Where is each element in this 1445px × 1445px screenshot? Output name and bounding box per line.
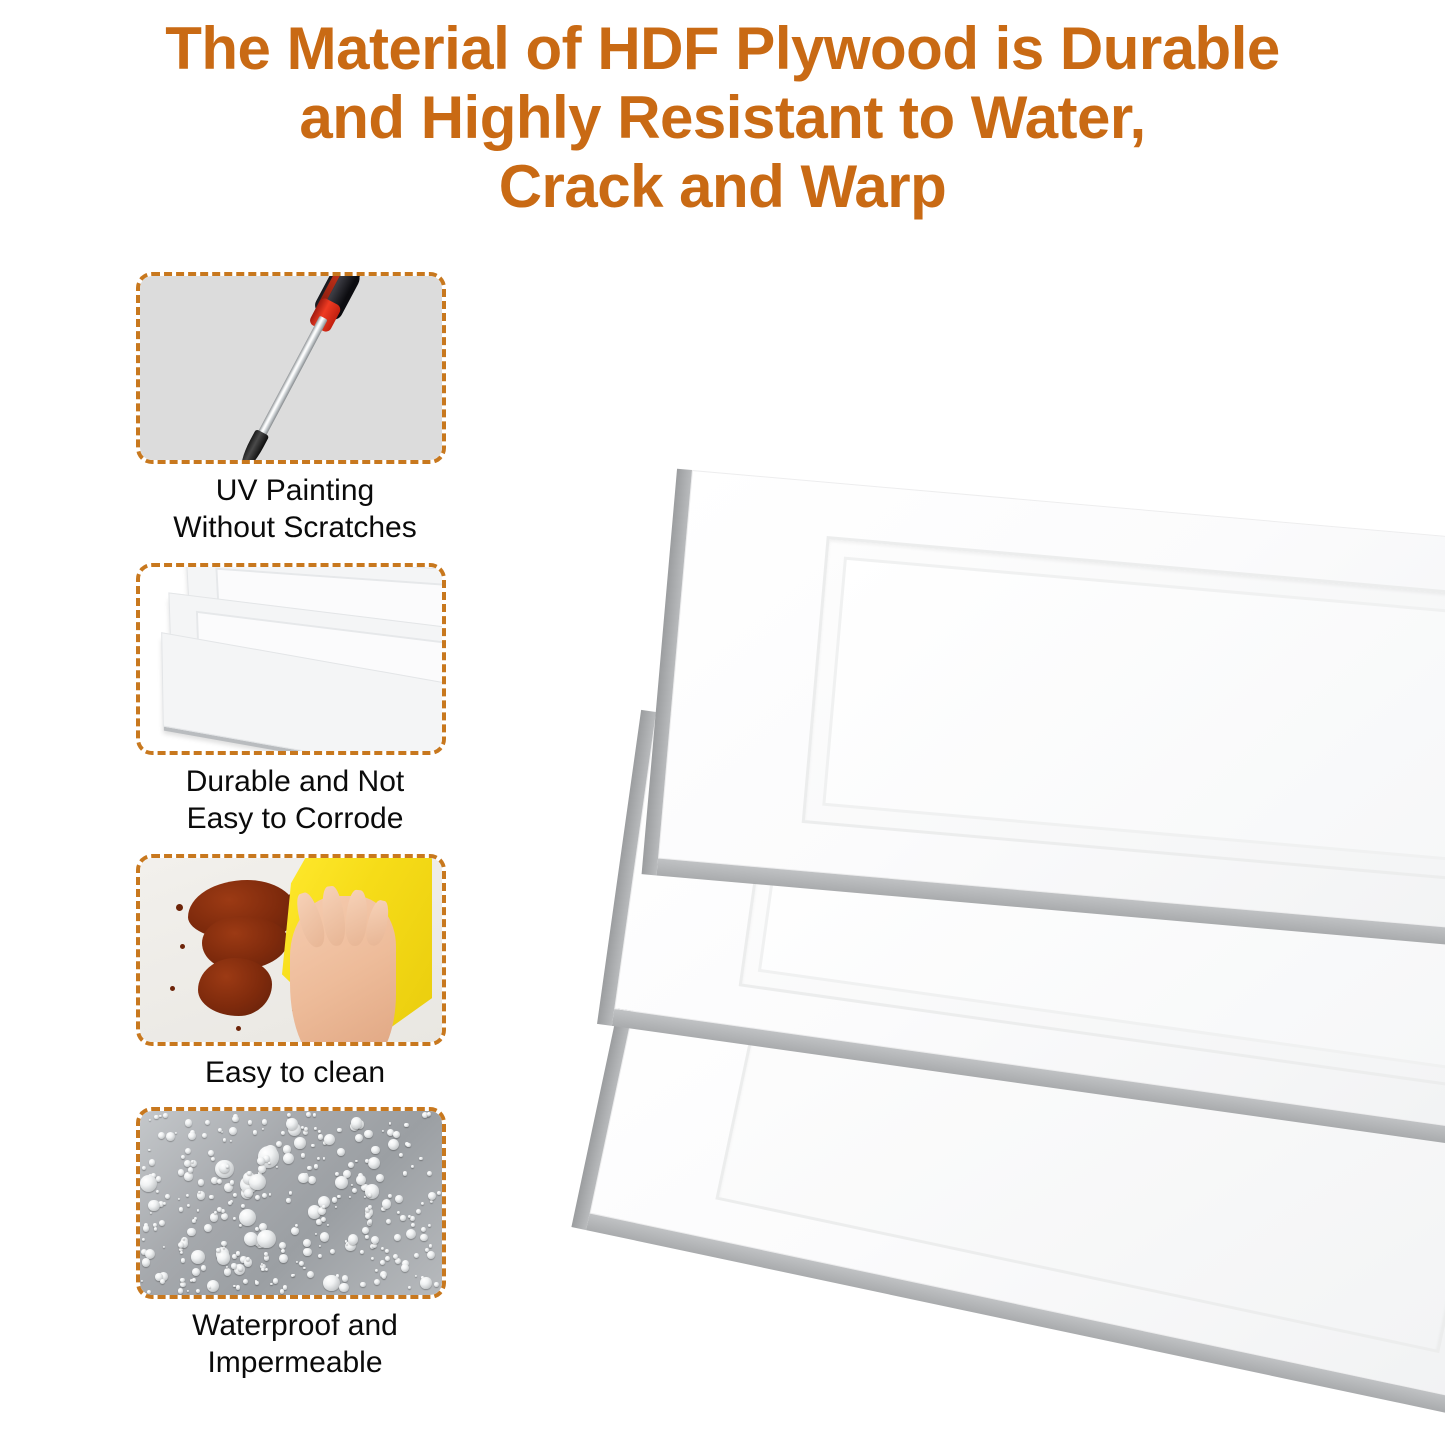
water-droplet bbox=[311, 1144, 315, 1148]
water-droplet bbox=[318, 1130, 321, 1133]
water-droplet bbox=[221, 1213, 228, 1220]
water-droplet bbox=[180, 1282, 186, 1288]
water-droplet bbox=[408, 1286, 411, 1289]
water-droplet bbox=[232, 1116, 238, 1122]
feature-card-durable-corrode bbox=[136, 563, 446, 755]
water-droplet bbox=[385, 1256, 390, 1261]
water-droplet bbox=[337, 1195, 340, 1198]
water-droplet bbox=[185, 1148, 192, 1155]
water-droplet bbox=[149, 1119, 151, 1121]
water-droplet bbox=[248, 1120, 252, 1124]
water-droplet bbox=[223, 1138, 226, 1141]
water-droplet bbox=[293, 1274, 295, 1276]
water-droplet bbox=[141, 1280, 143, 1282]
water-droplet bbox=[166, 1132, 175, 1141]
water-droplet bbox=[317, 1157, 321, 1161]
water-droplet bbox=[421, 1202, 425, 1206]
water-droplet bbox=[211, 1157, 215, 1161]
water-droplet bbox=[192, 1219, 196, 1223]
water-droplet bbox=[307, 1166, 311, 1170]
title-line-3: Crack and Warp bbox=[60, 152, 1385, 221]
water-droplet bbox=[163, 1246, 165, 1248]
water-droplet bbox=[318, 1254, 322, 1258]
water-droplet bbox=[320, 1232, 329, 1241]
water-droplet bbox=[239, 1224, 243, 1228]
water-droplet bbox=[393, 1254, 398, 1259]
water-droplet bbox=[314, 1127, 317, 1130]
water-droplet bbox=[269, 1193, 272, 1196]
water-droplet bbox=[270, 1283, 273, 1286]
water-droplet bbox=[198, 1191, 201, 1194]
water-droplet bbox=[376, 1174, 384, 1182]
water-droplet bbox=[322, 1205, 326, 1209]
water-droplet bbox=[244, 1189, 252, 1197]
water-droplet bbox=[337, 1128, 342, 1133]
water-droplet bbox=[332, 1197, 338, 1203]
page-title: The Material of HDF Plywood is Durable a… bbox=[0, 14, 1445, 221]
water-droplet bbox=[342, 1275, 349, 1282]
water-droplet bbox=[192, 1268, 200, 1276]
water-droplet bbox=[261, 1268, 265, 1272]
water-droplet bbox=[273, 1278, 279, 1284]
hdf-plywood-panel-stack bbox=[600, 420, 1445, 1370]
water-droplet bbox=[238, 1266, 243, 1271]
water-droplet bbox=[371, 1146, 379, 1154]
water-droplet bbox=[286, 1198, 291, 1203]
water-droplet bbox=[323, 1157, 326, 1160]
water-droplet bbox=[159, 1115, 162, 1118]
water-droplet bbox=[184, 1160, 191, 1167]
water-droplet bbox=[255, 1281, 259, 1285]
feature-item-easy-clean: Easy to clean bbox=[136, 854, 454, 1092]
water-droplet bbox=[287, 1113, 291, 1117]
water-droplet bbox=[397, 1211, 400, 1214]
water-droplet bbox=[159, 1220, 165, 1226]
caption-line: Waterproof and bbox=[136, 1308, 454, 1345]
water-droplet bbox=[244, 1232, 258, 1246]
water-droplet bbox=[362, 1227, 369, 1234]
water-droplet bbox=[368, 1193, 372, 1197]
water-droplet bbox=[280, 1289, 285, 1294]
water-droplet bbox=[187, 1228, 196, 1237]
water-droplet bbox=[421, 1227, 426, 1232]
water-droplet bbox=[158, 1132, 165, 1139]
water-droplet bbox=[394, 1234, 401, 1241]
water-droplet bbox=[257, 1230, 276, 1249]
water-droplet bbox=[296, 1261, 298, 1263]
water-droplet bbox=[411, 1165, 414, 1168]
water-droplet bbox=[181, 1155, 185, 1159]
water-droplet bbox=[416, 1209, 421, 1214]
water-droplet bbox=[307, 1271, 315, 1279]
water-droplet bbox=[380, 1260, 385, 1265]
water-droplet bbox=[226, 1165, 229, 1168]
water-droplet bbox=[430, 1200, 433, 1203]
water-droplet bbox=[179, 1207, 184, 1212]
water-droplet bbox=[318, 1207, 326, 1215]
water-droplet bbox=[304, 1127, 308, 1131]
water-droplet bbox=[187, 1204, 190, 1207]
water-droplet bbox=[437, 1191, 441, 1195]
water-droplet bbox=[231, 1263, 236, 1268]
water-droplet bbox=[364, 1130, 373, 1139]
water-droplet bbox=[403, 1171, 408, 1176]
water-droplet bbox=[368, 1205, 372, 1209]
water-droplet bbox=[365, 1213, 371, 1219]
water-droplet bbox=[420, 1234, 428, 1242]
stain-splatter bbox=[236, 1026, 241, 1031]
water-droplet bbox=[389, 1122, 391, 1124]
water-droplet bbox=[233, 1193, 237, 1197]
water-droplet bbox=[355, 1160, 358, 1163]
water-droplet bbox=[428, 1224, 431, 1227]
water-droplet bbox=[217, 1251, 231, 1265]
water-droplet bbox=[150, 1212, 153, 1215]
water-droplet bbox=[163, 1113, 168, 1118]
water-droplet bbox=[348, 1162, 354, 1168]
water-droplet bbox=[156, 1190, 160, 1194]
water-droplet bbox=[258, 1165, 267, 1174]
water-droplet bbox=[393, 1131, 400, 1138]
caption-line: Easy to Corrode bbox=[136, 801, 454, 838]
water-droplet bbox=[303, 1267, 306, 1270]
water-droplet bbox=[265, 1268, 268, 1271]
water-droplet bbox=[315, 1233, 317, 1235]
water-droplet bbox=[188, 1167, 193, 1172]
caption-line: Easy to clean bbox=[136, 1055, 454, 1092]
water-droplet bbox=[330, 1249, 335, 1254]
water-droplet bbox=[160, 1279, 165, 1284]
water-droplet bbox=[224, 1268, 231, 1275]
water-droplet bbox=[382, 1199, 392, 1209]
water-droplet bbox=[375, 1269, 378, 1272]
water-droplet bbox=[303, 1130, 308, 1135]
screwdriver-icon bbox=[140, 276, 442, 460]
water-droplet bbox=[335, 1206, 337, 1208]
water-droplet bbox=[148, 1149, 151, 1152]
water-droplet bbox=[181, 1258, 185, 1262]
water-droplet bbox=[165, 1194, 170, 1199]
water-droplet bbox=[382, 1130, 385, 1133]
water-droplet bbox=[221, 1241, 226, 1246]
stacked-panels-icon bbox=[140, 567, 442, 751]
water-droplet bbox=[323, 1275, 339, 1291]
water-droplet bbox=[298, 1173, 309, 1184]
water-droplet bbox=[339, 1283, 349, 1293]
water-droplet bbox=[255, 1195, 260, 1200]
water-droplet bbox=[306, 1112, 311, 1117]
water-droplet bbox=[209, 1286, 211, 1288]
water-droplet bbox=[236, 1251, 241, 1256]
water-droplet bbox=[360, 1282, 365, 1287]
water-droplet bbox=[209, 1195, 214, 1200]
water-droplet bbox=[351, 1117, 363, 1129]
screwdriver-glyph bbox=[236, 276, 359, 460]
water-droplet bbox=[381, 1247, 384, 1250]
feature-card-uv-painting bbox=[136, 272, 446, 464]
water-droplet bbox=[318, 1134, 324, 1140]
water-droplet bbox=[143, 1225, 149, 1231]
water-droplet bbox=[208, 1150, 214, 1156]
water-droplet bbox=[276, 1166, 278, 1168]
water-droplet bbox=[192, 1278, 196, 1282]
water-droplet bbox=[299, 1261, 304, 1266]
water-droplet bbox=[388, 1139, 399, 1150]
water-droplet bbox=[401, 1264, 410, 1273]
water-droplet bbox=[349, 1196, 351, 1198]
water-droplet bbox=[404, 1123, 409, 1128]
water-droplet bbox=[410, 1216, 414, 1220]
feature-list: UV Painting Without Scratches Dura bbox=[136, 272, 454, 1398]
feature-caption-easy-clean: Easy to clean bbox=[136, 1055, 454, 1092]
water-droplet bbox=[419, 1157, 423, 1161]
water-droplet bbox=[233, 1217, 236, 1220]
water-droplet bbox=[268, 1162, 271, 1165]
water-droplet bbox=[196, 1289, 200, 1293]
water-droplet bbox=[303, 1239, 311, 1247]
water-droplet bbox=[360, 1250, 364, 1254]
water-droplet bbox=[289, 1191, 292, 1194]
title-line-2: and Highly Resistant to Water, bbox=[60, 83, 1385, 152]
water-droplet bbox=[283, 1153, 294, 1164]
feature-item-waterproof: Waterproof and Impermeable bbox=[136, 1107, 454, 1382]
water-droplet bbox=[264, 1255, 269, 1260]
water-droplet bbox=[202, 1133, 207, 1138]
water-droplet bbox=[420, 1277, 431, 1288]
water-droplet bbox=[427, 1251, 435, 1259]
water-droplet bbox=[356, 1175, 366, 1185]
water-droplet bbox=[230, 1140, 233, 1143]
water-droplet bbox=[191, 1250, 205, 1264]
water-droplet bbox=[198, 1179, 204, 1185]
feature-caption-durable-corrode: Durable and Not Easy to Corrode bbox=[136, 764, 454, 838]
water-droplet bbox=[148, 1200, 159, 1211]
water-droplet bbox=[180, 1278, 185, 1283]
water-droplet bbox=[313, 1113, 316, 1116]
screwdriver-tip bbox=[236, 429, 269, 460]
feature-caption-waterproof: Waterproof and Impermeable bbox=[136, 1308, 454, 1382]
water-droplet bbox=[382, 1274, 386, 1278]
water-droplet bbox=[400, 1215, 405, 1220]
feature-card-easy-clean bbox=[136, 854, 446, 1046]
water-droplet bbox=[281, 1249, 285, 1253]
caption-line: UV Painting bbox=[136, 473, 454, 510]
water-droplet bbox=[187, 1290, 189, 1292]
water-droplet bbox=[399, 1153, 403, 1157]
water-droplet bbox=[427, 1112, 431, 1116]
water-droplet bbox=[414, 1253, 419, 1258]
hand-wiping-cloth-icon bbox=[140, 858, 442, 1042]
screwdriver-shaft bbox=[254, 316, 328, 444]
water-droplet bbox=[149, 1159, 156, 1166]
water-droplet bbox=[184, 1172, 192, 1180]
water-droplet bbox=[365, 1184, 379, 1198]
water-droplet bbox=[351, 1184, 353, 1186]
water-droplet bbox=[262, 1128, 264, 1130]
water-droplet bbox=[434, 1282, 439, 1287]
water-droplet bbox=[319, 1245, 321, 1247]
water-droplet bbox=[368, 1219, 373, 1224]
stain-splatter bbox=[170, 986, 175, 991]
water-droplet bbox=[374, 1279, 380, 1285]
water-droplet bbox=[301, 1153, 306, 1158]
title-line-1: The Material of HDF Plywood is Durable bbox=[60, 14, 1385, 83]
water-droplet bbox=[335, 1176, 348, 1189]
water-droplet bbox=[147, 1290, 152, 1295]
water-droplet bbox=[303, 1248, 311, 1256]
caption-line: Impermeable bbox=[136, 1345, 454, 1382]
feature-caption-uv-painting: UV Painting Without Scratches bbox=[136, 473, 454, 547]
water-droplet bbox=[279, 1254, 288, 1263]
water-droplet bbox=[406, 1143, 411, 1148]
water-droplet bbox=[210, 1213, 219, 1222]
feature-item-durable-corrode: Durable and Not Easy to Corrode bbox=[136, 563, 454, 838]
water-droplet bbox=[142, 1166, 146, 1170]
hero-panel-top bbox=[658, 470, 1445, 936]
water-droplet bbox=[249, 1174, 266, 1191]
water-droplet bbox=[427, 1171, 432, 1176]
water-droplet bbox=[142, 1238, 145, 1241]
water-droplet bbox=[178, 1169, 184, 1175]
water-droplet bbox=[324, 1134, 335, 1145]
panel-inner-inset bbox=[822, 557, 1445, 865]
caption-line: Without Scratches bbox=[136, 510, 454, 547]
water-droplet bbox=[262, 1119, 267, 1124]
water-droplet bbox=[385, 1249, 389, 1253]
water-droplet bbox=[371, 1257, 374, 1260]
water-droplet bbox=[201, 1265, 206, 1270]
water-droplet bbox=[257, 1157, 265, 1165]
water-droplets-icon bbox=[140, 1111, 442, 1295]
water-droplet bbox=[253, 1130, 258, 1135]
water-droplet bbox=[314, 1164, 319, 1169]
water-droplet bbox=[230, 1180, 234, 1184]
water-droplet bbox=[337, 1148, 345, 1156]
water-droplet bbox=[217, 1179, 222, 1184]
water-droplet bbox=[291, 1227, 299, 1235]
water-droplet bbox=[388, 1194, 393, 1199]
water-droplet bbox=[262, 1193, 267, 1198]
water-droplet bbox=[233, 1285, 236, 1288]
water-droplet bbox=[428, 1192, 436, 1200]
water-droplet bbox=[281, 1131, 285, 1135]
water-droplet bbox=[246, 1257, 250, 1261]
water-droplet bbox=[294, 1137, 306, 1149]
water-droplet bbox=[295, 1224, 298, 1227]
water-droplet bbox=[276, 1141, 283, 1148]
water-droplet bbox=[204, 1224, 212, 1232]
water-droplet bbox=[142, 1258, 151, 1267]
water-droplet bbox=[185, 1119, 192, 1126]
water-droplet bbox=[261, 1263, 263, 1265]
water-droplet bbox=[386, 1219, 391, 1224]
water-droplet bbox=[395, 1195, 403, 1203]
water-droplet bbox=[188, 1132, 196, 1140]
mini-panel-stack bbox=[140, 567, 442, 751]
stain-splatter bbox=[176, 904, 183, 911]
water-droplet bbox=[321, 1217, 326, 1222]
water-droplet bbox=[228, 1201, 233, 1206]
water-droplet bbox=[154, 1115, 159, 1120]
water-droplet bbox=[411, 1223, 415, 1227]
water-droplet bbox=[197, 1209, 200, 1212]
water-droplet bbox=[429, 1244, 432, 1247]
water-droplet bbox=[236, 1285, 240, 1289]
water-droplet bbox=[406, 1229, 416, 1239]
stain-splatter bbox=[180, 944, 185, 949]
water-droplet bbox=[348, 1234, 358, 1244]
water-droplet bbox=[327, 1224, 329, 1226]
feature-card-waterproof bbox=[136, 1107, 446, 1299]
water-droplet bbox=[368, 1157, 380, 1169]
stain-lower bbox=[198, 958, 272, 1016]
water-droplet bbox=[180, 1251, 183, 1254]
water-droplet bbox=[175, 1132, 177, 1134]
water-droplet bbox=[243, 1279, 248, 1284]
water-droplet bbox=[140, 1175, 157, 1192]
water-droplet bbox=[355, 1134, 363, 1142]
water-droplet bbox=[352, 1188, 357, 1193]
water-droplet bbox=[186, 1194, 189, 1197]
water-droplet bbox=[178, 1198, 180, 1200]
water-droplet bbox=[286, 1118, 298, 1130]
water-droplet bbox=[205, 1120, 210, 1125]
caption-line: Durable and Not bbox=[136, 764, 454, 801]
water-droplet bbox=[154, 1227, 157, 1230]
water-droplet bbox=[415, 1275, 417, 1277]
water-droplet bbox=[178, 1288, 183, 1293]
water-droplet bbox=[153, 1223, 157, 1227]
water-droplet bbox=[229, 1127, 237, 1135]
water-droplet bbox=[241, 1204, 245, 1208]
water-droplet bbox=[163, 1202, 166, 1205]
feature-item-uv-painting: UV Painting Without Scratches bbox=[136, 272, 454, 547]
water-droplet bbox=[371, 1236, 379, 1244]
water-droplet bbox=[365, 1235, 368, 1238]
water-droplet bbox=[178, 1242, 184, 1248]
